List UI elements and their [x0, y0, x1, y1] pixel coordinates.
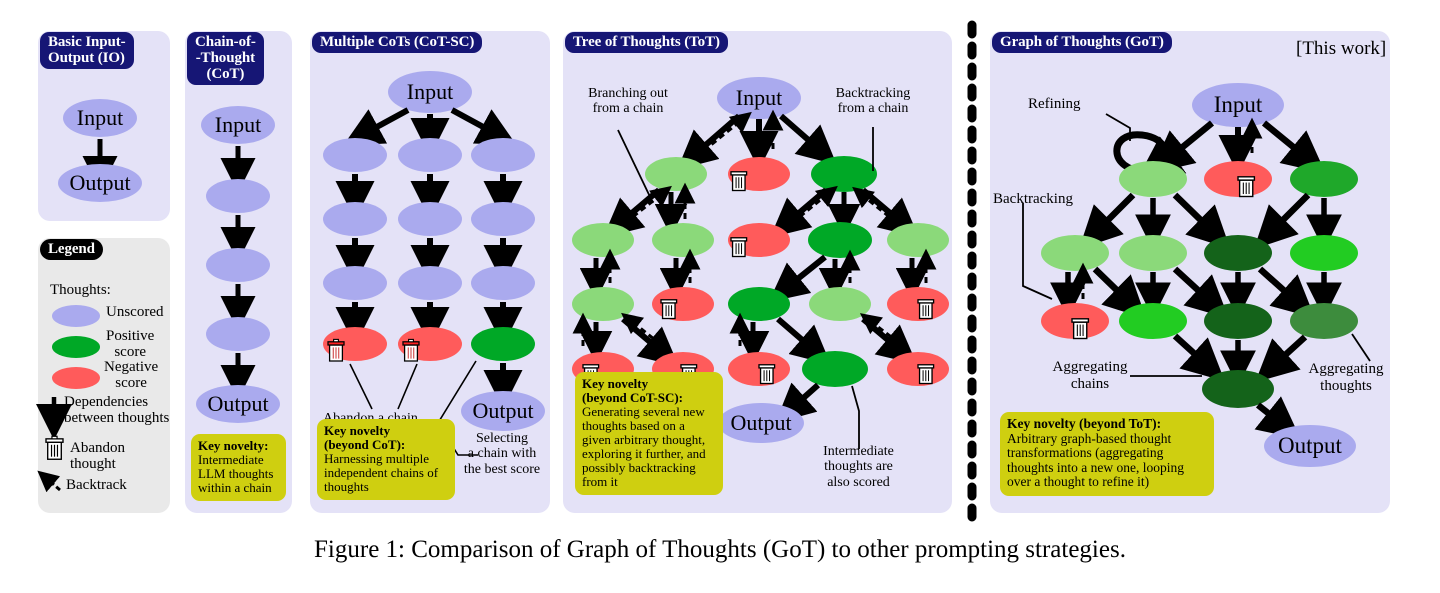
- edge-tot-bt-6: [861, 194, 897, 223]
- annot-backtracking: Backtracking: [993, 191, 1073, 208]
- node-got-l3-d: [1290, 303, 1358, 339]
- annot-backtracking-from-chain: Backtracking from a chain: [818, 86, 928, 117]
- legend-swatch-unscored: [52, 305, 100, 327]
- trash-icon: [328, 339, 344, 361]
- trash-icon: [731, 172, 747, 191]
- edge-sc-branch-right: [452, 110, 498, 135]
- keybox-tot-body: Generating several new thoughts based on…: [582, 404, 706, 489]
- node-sc-c2r1: [398, 138, 462, 172]
- node-cot-t3: [206, 317, 270, 351]
- node-tot-l3-b: [652, 287, 714, 321]
- node-got-l1-c: [1290, 161, 1358, 197]
- edge-got-l1a-l2c: [1175, 195, 1214, 233]
- edge-got-agg-output: [1258, 405, 1283, 425]
- node-output: [58, 164, 142, 202]
- edge-got-in-l1a: [1168, 123, 1212, 159]
- edge-got-l2b-l3c: [1175, 269, 1212, 303]
- edge-sc-branch-left: [362, 110, 408, 135]
- keybox-tot-heading: Key novelty (beyond CoT-SC):: [582, 376, 683, 405]
- annot-intermediate-scored: Intermediate thoughts are also scored: [806, 444, 911, 490]
- node-got-l2-d: [1290, 235, 1358, 271]
- trash-icon: [731, 238, 747, 257]
- keybox-got-heading: Key novelty (beyond ToT):: [1007, 416, 1161, 431]
- panel-title-cotsc: Multiple CoTs (CoT-SC): [312, 32, 482, 53]
- panel-title-got: Graph of Thoughts (GoT): [992, 32, 1172, 53]
- node-tot-l3-e: [887, 287, 949, 321]
- node-sc-c3r2: [471, 202, 535, 236]
- panel-title-cot: Chain-of- -Thought (CoT): [187, 32, 264, 85]
- figure-root: Input Output Basic Input- Output (IO): [0, 0, 1440, 593]
- panel-title-tot: Tree of Thoughts (ToT): [565, 32, 728, 53]
- edge-tot-bt-3: [625, 193, 663, 223]
- node-got-l2-c: [1204, 235, 1272, 271]
- keybox-got-body: Arbitrary graph-based thought transforma…: [1007, 431, 1184, 490]
- node-sc-c3-terminal-positive: [471, 327, 535, 361]
- legend-label-unscored: Unscored: [106, 305, 163, 321]
- annot-refining: Refining: [1028, 96, 1081, 113]
- leader-abandon-1: [350, 364, 372, 409]
- legend-thoughts-label: Thoughts:: [50, 283, 111, 299]
- keybox-cotsc-heading: Key novelty (beyond CoT):: [324, 423, 405, 452]
- node-cot-t2: [206, 248, 270, 282]
- edge-tot-to-output: [791, 385, 818, 409]
- node-tot-l3-d: [809, 287, 871, 321]
- annot-aggregating-chains: Aggregating chains: [1045, 359, 1135, 392]
- annot-aggregating-thoughts: Aggregating thoughts: [1300, 361, 1392, 394]
- section-divider: [962, 25, 982, 525]
- node-sc-input: [388, 71, 472, 113]
- node-sc-c2r2: [398, 202, 462, 236]
- panel-title-io: Basic Input- Output (IO): [40, 32, 134, 69]
- legend-label-abandon: Abandon thought: [70, 441, 170, 473]
- edge-got-l2a-l3b: [1095, 269, 1130, 303]
- node-got-l1-a: [1119, 161, 1187, 197]
- trash-icon: [661, 300, 677, 319]
- node-sc-c1r3: [323, 266, 387, 300]
- backtrack-icon: [46, 478, 60, 490]
- node-got-l3-b: [1119, 303, 1187, 339]
- edge-got-l3b-agg: [1175, 336, 1208, 366]
- node-sc-c2r3: [398, 266, 462, 300]
- node-got-output: [1264, 425, 1356, 467]
- panel-title-legend: Legend: [40, 239, 103, 260]
- node-tot-l3-c: [728, 287, 790, 321]
- edge-tot-l1a-l2a: [619, 190, 659, 224]
- edge-tot-root-l1a: [693, 116, 739, 156]
- leader-intermediate-scored: [852, 386, 859, 449]
- edge-got-l1a-l2a: [1095, 195, 1133, 233]
- edge-tot-l3d-l4e: [863, 319, 901, 351]
- this-work-tag: [This work]: [1296, 38, 1386, 60]
- trash-icon: [759, 365, 775, 384]
- node-got-l3-c: [1204, 303, 1272, 339]
- node-tot-l4-e: [887, 352, 949, 386]
- edge-tot-l3c-l4d: [778, 319, 815, 351]
- node-got-l2-a: [1041, 235, 1109, 271]
- legend-label-backtrack: Backtrack: [66, 478, 127, 494]
- edge-tot-bt-14: [869, 320, 907, 349]
- node-tot-l1-a: [645, 157, 707, 191]
- node-tot-l2-b: [652, 223, 714, 257]
- node-sc-c3r1: [471, 138, 535, 172]
- keybox-got: Key novelty (beyond ToT): Arbitrary grap…: [1000, 412, 1214, 496]
- node-sc-c1r1: [323, 138, 387, 172]
- legend-swatch-negative: [52, 367, 100, 389]
- edge-tot-l2d-l3c: [785, 257, 825, 289]
- edge-got-l1c-l2c: [1270, 195, 1308, 233]
- node-cot-input: [201, 106, 275, 144]
- trash-icon: [403, 339, 419, 361]
- keybox-cot-heading: Key novelty:: [198, 438, 268, 453]
- keybox-cotsc-body: Harnessing multiple independent chains o…: [324, 451, 438, 494]
- node-cot-t1: [206, 179, 270, 213]
- legend-swatch-positive: [52, 336, 100, 358]
- keybox-tot: Key novelty (beyond CoT-SC): Generating …: [575, 372, 723, 495]
- node-tot-l1-c: [811, 156, 877, 192]
- node-got-aggregate: [1202, 370, 1274, 408]
- edge-tot-bt-5: [792, 193, 829, 223]
- edge-got-in-l1c: [1264, 123, 1308, 159]
- node-tot-l4-d: [802, 351, 868, 387]
- keybox-cot-body: Intermediate LLM thoughts within a chain: [198, 452, 273, 495]
- edge-tot-bt-1: [696, 119, 743, 157]
- leader-abandon-2: [398, 364, 417, 409]
- legend-label-negative: Negative score: [104, 360, 158, 392]
- node-sc-output: [461, 391, 545, 431]
- edge-tot-l1c-l2e: [863, 190, 903, 224]
- legend-label-positive: Positive score: [106, 329, 154, 361]
- node-tot-l2-a: [572, 223, 634, 257]
- node-sc-c1r2: [323, 202, 387, 236]
- node-tot-output: [718, 403, 804, 443]
- edge-tot-l3a-l4b: [623, 319, 663, 353]
- figure-caption: Figure 1: Comparison of Graph of Thought…: [0, 536, 1440, 564]
- panel-legend: Thoughts: Unscored Positive score Negati…: [38, 238, 170, 513]
- edge-tot-root-l1c: [781, 116, 821, 151]
- keybox-cot: Key novelty: Intermediate LLM thoughts w…: [191, 434, 286, 501]
- trash-icon: [918, 300, 934, 319]
- keybox-cotsc: Key novelty (beyond CoT): Harnessing mul…: [317, 419, 455, 500]
- edge-tot-l1c-l2c: [786, 190, 826, 224]
- trash-icon: [46, 436, 63, 459]
- annot-selecting-best-score: Selecting a chain with the best score: [456, 431, 548, 477]
- node-tot-l3-a: [572, 287, 634, 321]
- leader-aggregating-thoughts: [1352, 334, 1370, 361]
- leader-branching-out: [618, 130, 653, 203]
- legend-label-dependencies: Dependencies between thoughts: [64, 395, 169, 427]
- trash-icon: [1072, 319, 1088, 339]
- edge-got-l2c-l3d: [1260, 269, 1298, 303]
- node-tot-input: [717, 77, 801, 119]
- annot-branching-out: Branching out from a chain: [573, 86, 683, 117]
- node-got-input: [1192, 83, 1284, 127]
- node-tot-l2-d: [808, 222, 872, 258]
- node-tot-l2-e: [887, 223, 949, 257]
- edge-tot-bt-12: [630, 320, 669, 351]
- node-input: [63, 99, 137, 137]
- node-tot-l4-c: [728, 352, 790, 386]
- trash-icon: [1238, 177, 1254, 197]
- node-got-l2-b: [1119, 235, 1187, 271]
- node-sc-c3r3: [471, 266, 535, 300]
- node-cot-output: [196, 385, 280, 423]
- trash-icon: [918, 365, 934, 384]
